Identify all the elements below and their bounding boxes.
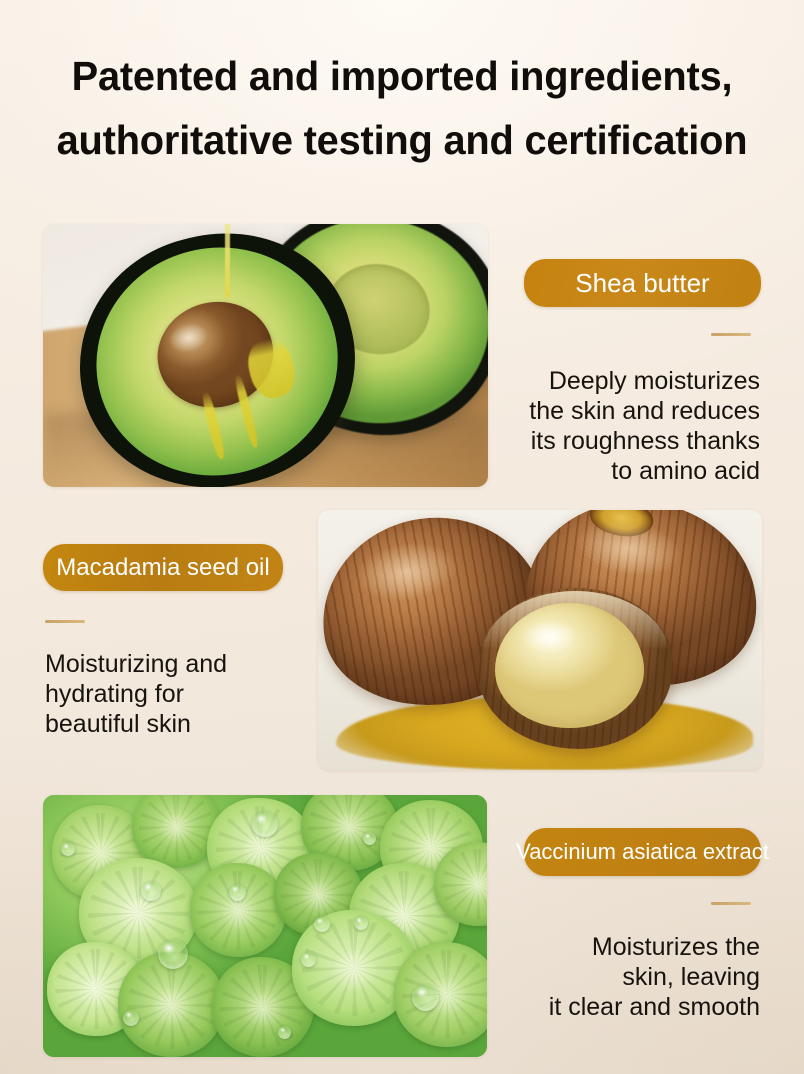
divider-rule-macadamia [45,620,85,623]
water-droplet [252,811,278,837]
nut-highlight [353,537,462,607]
page-title-line-1: Patented and imported ingredients, [12,44,792,108]
page-title: Patented and imported ingredients, autho… [0,44,804,172]
desc-line: the skin and reduces [340,396,760,426]
ingredient-badge-shea-butter[interactable]: Shea butter [524,259,761,307]
water-droplet [278,1026,291,1039]
desc-line: to amino acid [340,456,760,486]
water-droplet [314,916,330,932]
ingredient-badge-macadamia-seed-oil[interactable]: Macadamia seed oil [43,544,283,591]
ingredient-infographic-page: Patented and imported ingredients, autho… [0,0,804,1074]
desc-line: Moisturizes the [340,932,760,962]
water-droplet [301,952,316,967]
ingredient-description-vaccinium-asiatica-extract: Moisturizes the skin, leaving it clear a… [340,932,760,1022]
divider-rule-vaccinium [711,902,751,905]
desc-line: Deeply moisturizes [340,366,760,396]
water-droplet [61,842,75,856]
water-droplet [363,832,376,845]
desc-line: it clear and smooth [340,992,760,1022]
macadamia-nut-cracked-open [478,588,673,749]
macadamia-illustration [318,510,762,770]
macadamia-kernel [495,603,643,729]
ingredient-description-shea-butter: Deeply moisturizes the skin and reduces … [340,366,760,486]
ingredient-badge-vaccinium-asiatica-extract[interactable]: Vaccinium asiatica extract [524,828,761,876]
centella-leaf [190,863,288,957]
desc-line: hydrating for [45,679,345,709]
water-droplet [123,1010,139,1026]
nut-highlight [571,513,684,584]
water-droplet [354,916,368,930]
desc-line: beautiful skin [45,709,345,739]
kernel-highlight [522,620,575,653]
desc-line: its roughness thanks [340,426,760,456]
divider-rule-shea [711,333,751,336]
desc-line: skin, leaving [340,962,760,992]
desc-line: Moisturizing and [45,649,345,679]
ingredient-photo-macadamia [318,510,762,770]
ingredient-description-macadamia-seed-oil: Moisturizing and hydrating for beautiful… [45,649,345,739]
page-title-line-2: authoritative testing and certification [12,108,792,172]
avocado-seed-highlight [165,318,211,356]
oil-stream [225,224,230,298]
